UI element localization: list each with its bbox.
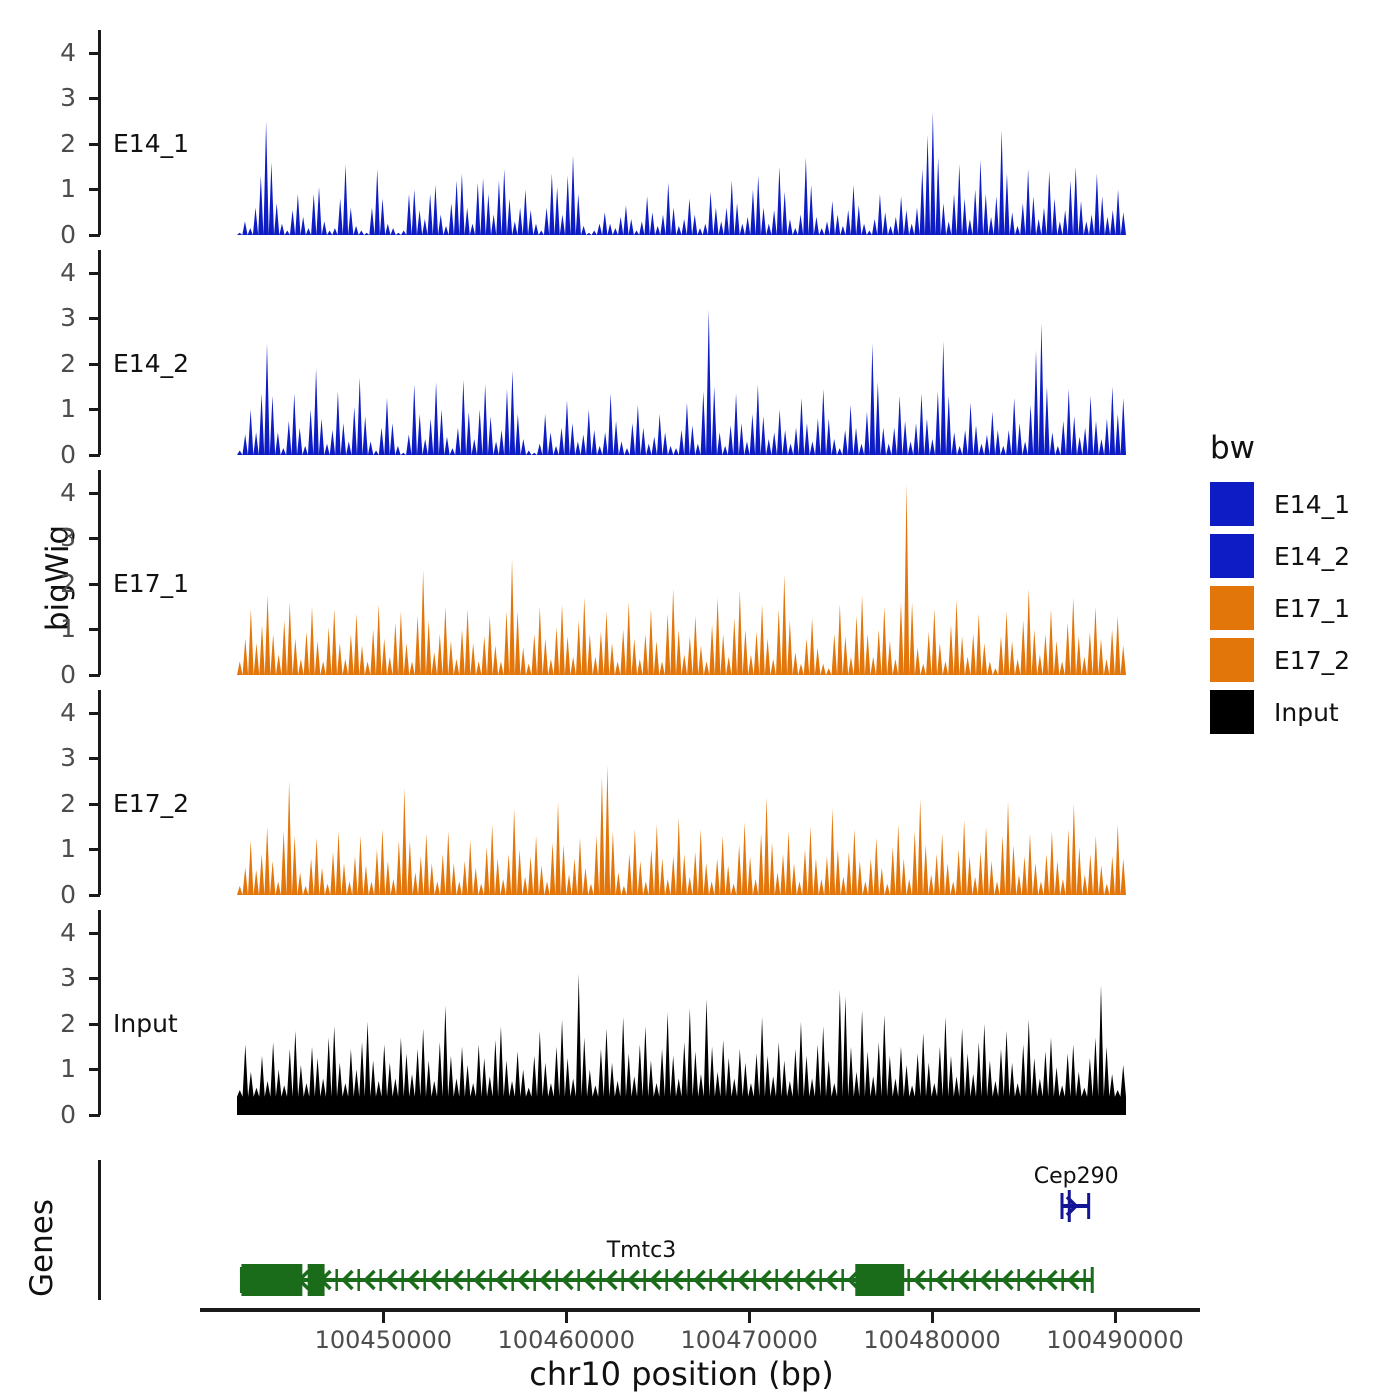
legend-label: E14_1	[1274, 492, 1350, 517]
y-axis-tick	[89, 272, 100, 275]
y-axis-tick-label: 4	[42, 40, 76, 65]
y-axis-tick-label: 0	[42, 882, 76, 907]
y-axis-tick	[89, 454, 100, 457]
y-axis-tick	[89, 1068, 100, 1071]
y-axis-tick-label: 4	[42, 480, 76, 505]
x-axis-tick-label: 100470000	[659, 1326, 839, 1354]
legend-item-e14_2[interactable]: E14_2	[1210, 534, 1350, 578]
track-label-e17_2: E17_2	[113, 791, 189, 816]
y-axis-tick	[89, 408, 100, 411]
y-axis-tick-label: 3	[42, 85, 76, 110]
signal-track-e14_2	[237, 250, 1126, 455]
y-axis-tick	[89, 97, 100, 100]
y-axis-tick	[89, 1023, 100, 1026]
y-axis-tick-label: 0	[42, 222, 76, 247]
y-axis-spine	[98, 470, 101, 675]
y-axis-tick	[89, 674, 100, 677]
y-axis-tick-label: 2	[42, 571, 76, 596]
y-axis-tick-label: 4	[42, 260, 76, 285]
legend-item-e17_2[interactable]: E17_2	[1210, 638, 1350, 682]
y-axis-tick	[89, 363, 100, 366]
legend-item-e17_1[interactable]: E17_1	[1210, 586, 1350, 630]
y-axis-tick-label: 0	[42, 442, 76, 467]
y-axis-tick-label: 1	[42, 176, 76, 201]
y-axis-tick	[89, 317, 100, 320]
y-axis-tick	[89, 492, 100, 495]
gene-label-tmtc3: Tmtc3	[581, 1240, 701, 1262]
track-label-e17_1: E17_1	[113, 571, 189, 596]
y-axis-tick-label: 4	[42, 920, 76, 945]
y-axis-tick	[89, 1114, 100, 1117]
x-axis-tick-label: 100460000	[476, 1326, 656, 1354]
x-axis-tick-label: 100490000	[1025, 1326, 1205, 1354]
gene-label-cep290: Cep290	[1016, 1166, 1136, 1188]
x-axis-tick	[382, 1312, 385, 1323]
y-axis-tick-label: 2	[42, 1011, 76, 1036]
legend-swatch-e17_2	[1210, 638, 1254, 682]
y-axis-tick	[89, 712, 100, 715]
y-axis-tick	[89, 848, 100, 851]
signal-track-e17_2	[237, 690, 1126, 895]
y-axis-tick	[89, 188, 100, 191]
signal-track-e17_1	[237, 470, 1126, 675]
y-axis-tick-label: 1	[42, 836, 76, 861]
legend-swatch-e14_1	[1210, 482, 1254, 526]
y-axis-tick-label: 3	[42, 525, 76, 550]
y-axis-tick	[89, 894, 100, 897]
y-axis-tick-label: 3	[42, 965, 76, 990]
y-axis-tick	[89, 628, 100, 631]
y-axis-tick-label: 0	[42, 662, 76, 687]
y-axis-spine	[98, 30, 101, 235]
x-axis-line	[200, 1308, 1200, 1312]
x-axis-tick	[748, 1312, 751, 1323]
legend-label: E14_2	[1274, 544, 1350, 569]
y-axis-spine	[98, 250, 101, 455]
legend-label: E17_1	[1274, 596, 1350, 621]
legend-label: Input	[1274, 700, 1339, 725]
signal-track-input	[237, 910, 1126, 1115]
legend-title: bw	[1210, 430, 1255, 466]
legend-swatch-e14_2	[1210, 534, 1254, 578]
y-axis-title-genes: Genes	[24, 1178, 60, 1318]
y-axis-tick-label: 1	[42, 616, 76, 641]
legend-swatch-input	[1210, 690, 1254, 734]
y-axis-tick	[89, 977, 100, 980]
legend-item-e14_1[interactable]: E14_1	[1210, 482, 1350, 526]
legend-item-input[interactable]: Input	[1210, 690, 1339, 734]
y-axis-tick-label: 2	[42, 131, 76, 156]
y-axis-tick-label: 0	[42, 1102, 76, 1127]
y-axis-spine	[98, 690, 101, 895]
y-axis-tick	[89, 757, 100, 760]
y-axis-tick	[89, 932, 100, 935]
x-axis-tick	[565, 1312, 568, 1323]
track-label-e14_1: E14_1	[113, 131, 189, 156]
track-label-input: Input	[113, 1011, 178, 1036]
y-axis-tick	[89, 143, 100, 146]
y-axis-spine	[98, 910, 101, 1115]
x-axis-tick	[931, 1312, 934, 1323]
y-axis-tick-label: 3	[42, 745, 76, 770]
y-axis-tick-label: 1	[42, 1056, 76, 1081]
y-axis-tick-label: 1	[42, 396, 76, 421]
y-axis-tick-label: 3	[42, 305, 76, 330]
x-axis-tick	[1114, 1312, 1117, 1323]
signal-track-e14_1	[237, 30, 1126, 235]
y-axis-tick	[89, 52, 100, 55]
genes-axis-spine	[98, 1160, 101, 1300]
gene-models	[237, 1160, 1126, 1300]
y-axis-tick	[89, 803, 100, 806]
x-axis-title: chr10 position (bp)	[472, 1355, 892, 1393]
y-axis-tick-label: 2	[42, 351, 76, 376]
y-axis-tick	[89, 234, 100, 237]
y-axis-tick	[89, 537, 100, 540]
track-label-e14_2: E14_2	[113, 351, 189, 376]
x-axis-tick-label: 100450000	[293, 1326, 473, 1354]
legend-label: E17_2	[1274, 648, 1350, 673]
x-axis-tick-label: 100480000	[842, 1326, 1022, 1354]
y-axis-tick	[89, 583, 100, 586]
y-axis-tick-label: 2	[42, 791, 76, 816]
legend-swatch-e17_1	[1210, 586, 1254, 630]
y-axis-tick-label: 4	[42, 700, 76, 725]
